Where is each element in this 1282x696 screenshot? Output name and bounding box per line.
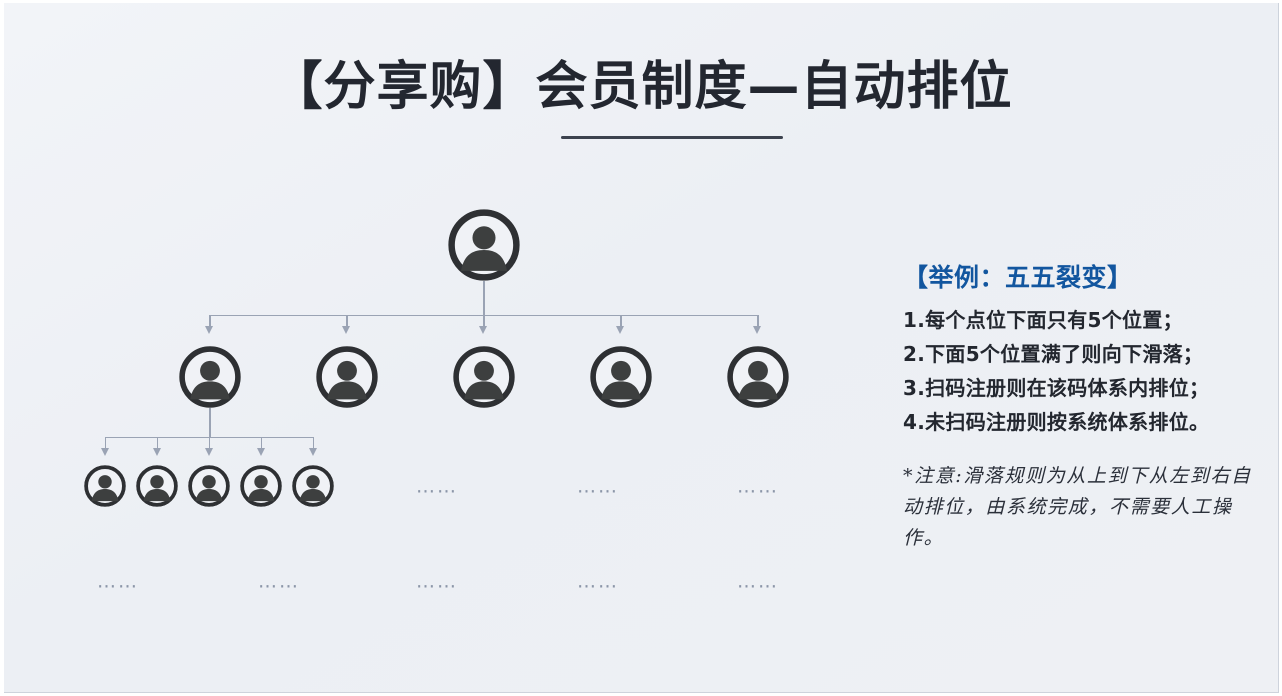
user-avatar-icon [590,346,652,408]
user-avatar-icon [453,346,515,408]
tree-node-level2-1[interactable] [179,346,241,408]
connector-arrow-level2-1 [205,326,213,334]
tree-node-level3-3[interactable] [188,465,230,507]
slide-canvas: 【分享购】会员制度—自动排位 [4,3,1279,693]
tree-node-level2-2[interactable] [316,346,378,408]
user-avatar-icon [448,209,520,281]
connector-arrow-level2-3 [479,326,487,334]
ellipsis-marker: …… [97,573,139,592]
connector-root-stem [483,281,484,315]
user-avatar-icon [727,346,789,408]
ellipsis-marker: …… [577,478,619,497]
list-item: 4.未扫码注册则按系统体系排位。 [903,405,1263,439]
user-avatar-icon [136,465,178,507]
tree-node-level3-4[interactable] [240,465,282,507]
connector-arrow-level2-2 [342,326,350,334]
example-rule-list: 1.每个点位下面只有5个位置； 2.下面5个位置满了则向下滑落； 3.扫码注册则… [903,303,1263,439]
ellipsis-marker: …… [258,573,300,592]
list-item: 3.扫码注册则在该码体系内排位； [903,371,1263,405]
list-item: 2.下面5个位置满了则向下滑落； [903,337,1263,371]
example-panel-heading: 【举例：五五裂变】 [903,261,1263,295]
connector-arrow-level2-5 [753,326,761,334]
example-panel: 【举例：五五裂变】 1.每个点位下面只有5个位置； 2.下面5个位置满了则向下滑… [903,261,1263,554]
tree-node-level3-1[interactable] [84,465,126,507]
connector-arrow-level3-5 [309,448,317,456]
user-avatar-icon [188,465,230,507]
tree-node-level3-5[interactable] [292,465,334,507]
connector-arrow-level3-4 [257,448,265,456]
connector-arrow-level3-3 [205,448,213,456]
ellipsis-marker: …… [737,478,779,497]
tree-node-level2-5[interactable] [727,346,789,408]
ellipsis-marker: …… [577,573,619,592]
user-avatar-icon [84,465,126,507]
connector-arrow-level2-4 [616,326,624,334]
user-avatar-icon [292,465,334,507]
user-avatar-icon [179,346,241,408]
user-avatar-icon [316,346,378,408]
list-item: 1.每个点位下面只有5个位置； [903,303,1263,337]
tree-node-level2-4[interactable] [590,346,652,408]
user-avatar-icon [240,465,282,507]
ellipsis-marker: …… [416,573,458,592]
connector-level2-1-stem [209,408,210,437]
ellipsis-marker: …… [416,478,458,497]
ellipsis-marker: …… [737,573,779,592]
tree-node-root[interactable] [448,209,520,281]
org-tree-diagram: …… …… …… …… …… …… …… …… [4,3,864,693]
example-panel-note: *注意:滑落规则为从上到下从左到右自动排位，由系统完成，不需要人工操作。 [903,461,1255,554]
connector-arrow-level3-2 [153,448,161,456]
connector-arrow-level3-1 [101,448,109,456]
tree-node-level2-3[interactable] [453,346,515,408]
tree-node-level3-2[interactable] [136,465,178,507]
